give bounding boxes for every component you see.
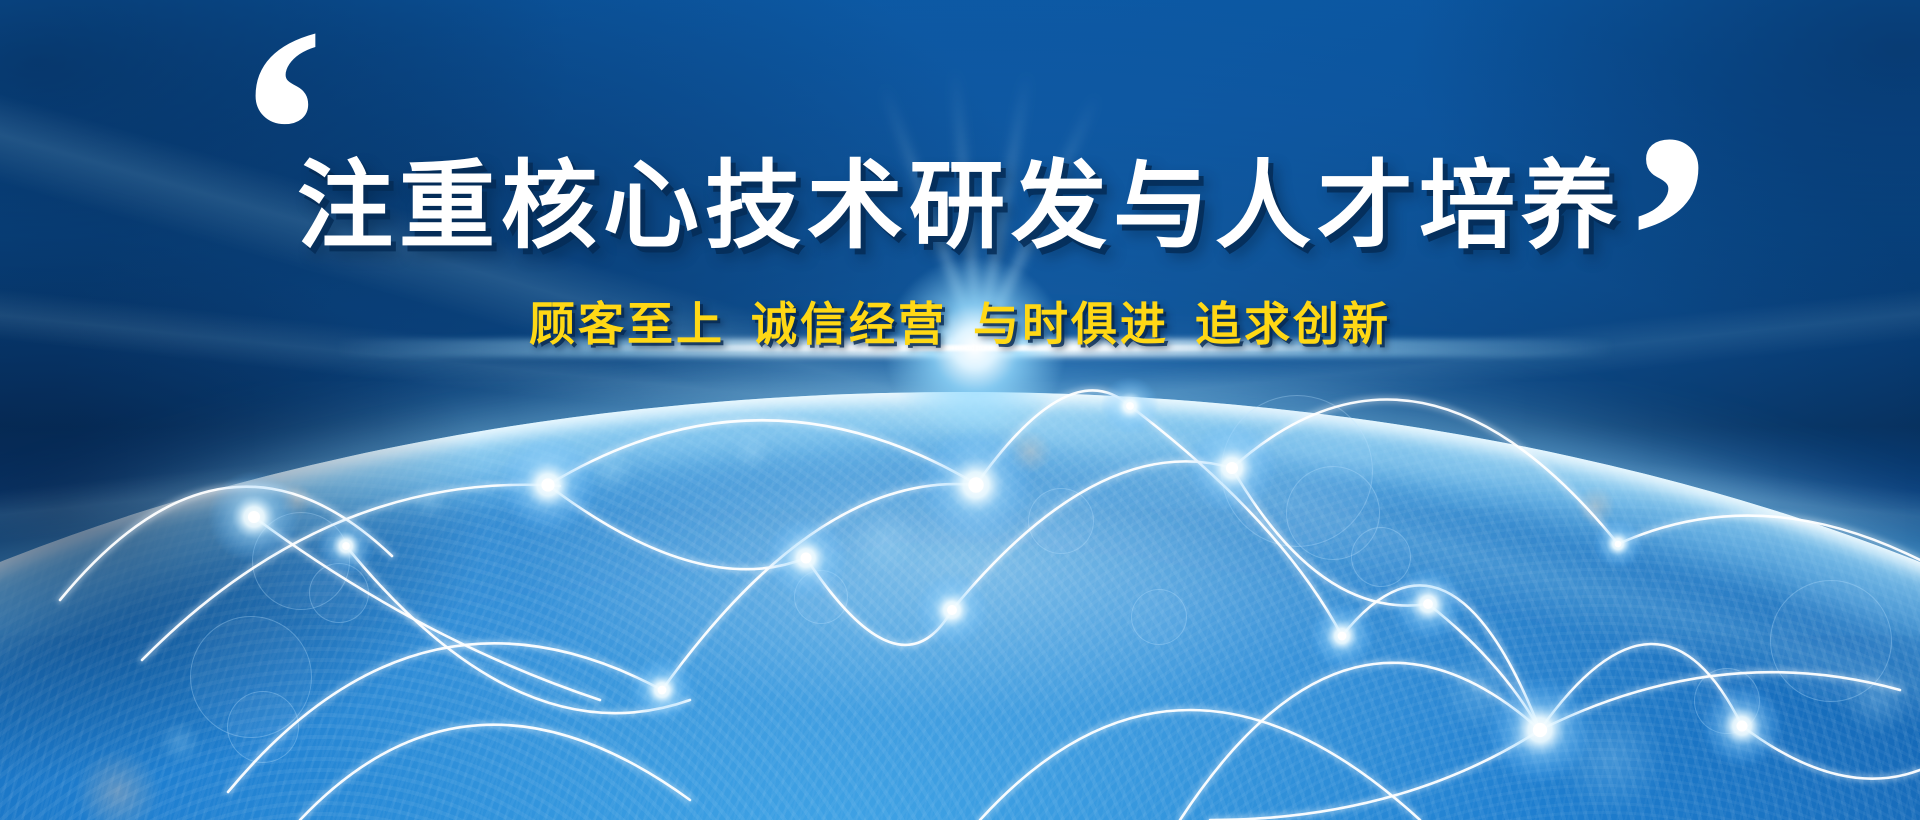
network-node (658, 686, 667, 695)
slogan-phrase: 与时俱进 (973, 299, 1169, 350)
connection-arc (548, 420, 976, 485)
connection-arc-glow (300, 725, 690, 820)
connection-arc-glow (1618, 516, 1920, 560)
slogan-phrase: 诚信经营 (751, 299, 947, 350)
network-node (342, 542, 350, 550)
connection-arc (228, 643, 662, 792)
network-node (541, 478, 554, 491)
banner-canvas: ‘ ’ 注重核心技术研发与人才培养 顾客至上诚信经营与时俱进追求创新 (0, 0, 1920, 820)
network-node (1615, 541, 1622, 548)
network-node (248, 511, 260, 523)
network-node (1126, 402, 1134, 410)
network-node (968, 477, 983, 492)
connection-arc-glow (1232, 399, 1618, 544)
connection-arc-glow (1180, 663, 1540, 820)
connection-arc (254, 517, 600, 700)
network-node (1338, 632, 1347, 641)
network-node (1533, 723, 1547, 737)
network-node (947, 605, 957, 615)
slogan-subtitle: 顾客至上诚信经营与时俱进追求创新 (0, 288, 1920, 354)
connection-arc-glow (228, 643, 662, 792)
slogan-phrase: 顾客至上 (529, 299, 725, 350)
connection-arc (1232, 399, 1618, 544)
network-node (1737, 721, 1748, 732)
network-node (1423, 599, 1433, 609)
headline-title: 注重核心技术研发与人才培养 (0, 128, 1920, 267)
network-node (1226, 462, 1238, 474)
slogan-phrase: 追求创新 (1195, 299, 1391, 350)
connection-arc-glow (254, 517, 600, 700)
node-group (208, 377, 1784, 785)
network-node (801, 553, 812, 564)
text-block: ‘ ’ 注重核心技术研发与人才培养 顾客至上诚信经营与时俱进追求创新 (0, 0, 1920, 400)
